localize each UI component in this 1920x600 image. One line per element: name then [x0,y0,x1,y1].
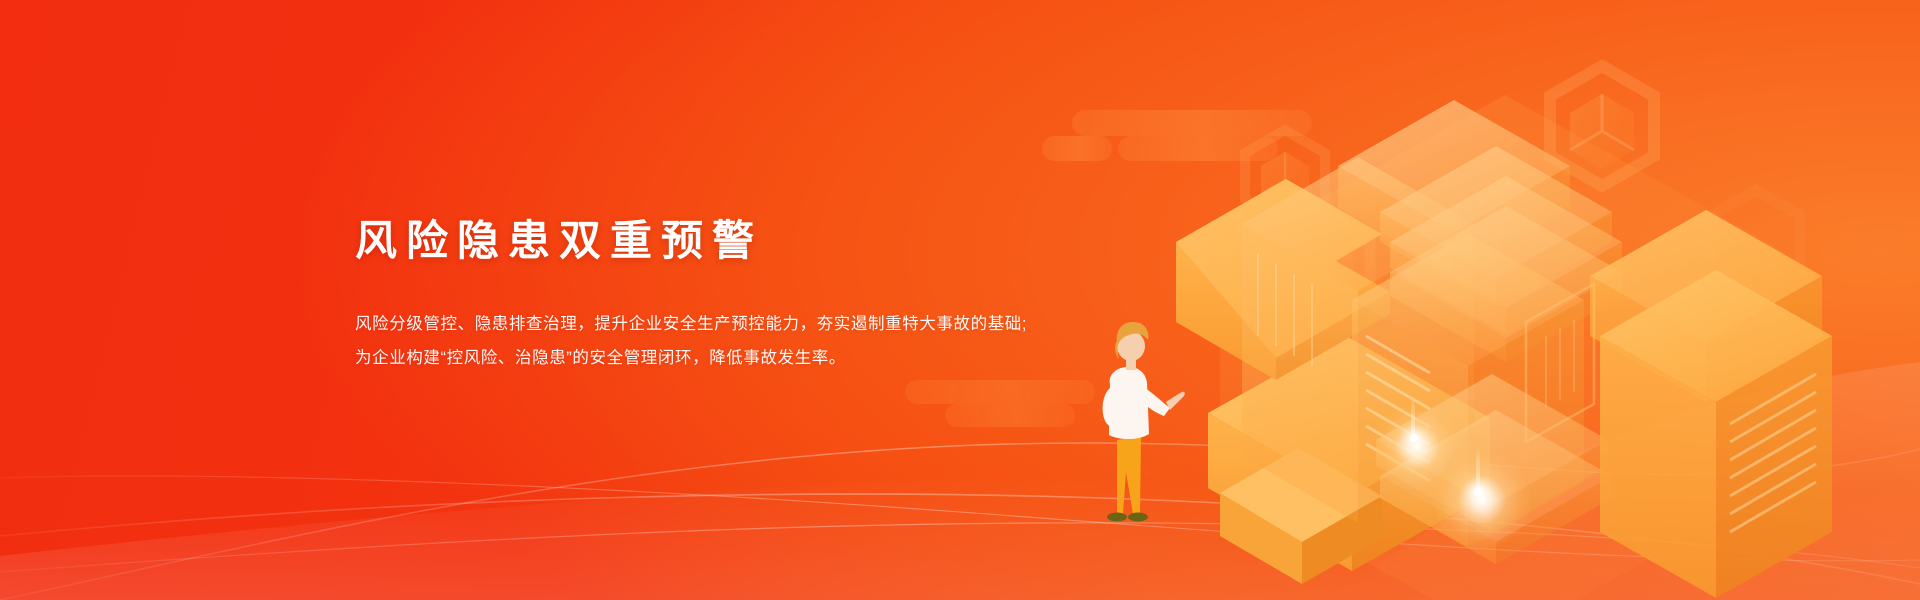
glow-marker-core-2 [1474,487,1483,496]
server-rack-tower-right [1590,210,1832,598]
subtitle-line-2: 为企业构建“控风险、治隐患”的安全管理闭环，降低事故发生率。 [355,342,1175,376]
glow-marker-core [1410,434,1418,442]
isometric-data-center-illustration [1090,36,1920,600]
banner-copy: 风险隐患双重预警 风险分级管控、隐患排查治理，提升企业安全生产预控能力，夯实遏制… [355,218,1175,376]
subtitle-line-1: 风险分级管控、隐患排查治理，提升企业安全生产预控能力，夯实遏制重特大事故的基础; [355,308,1175,342]
person-pointing [1103,322,1185,522]
banner-subtitle: 风险分级管控、隐患排查治理，提升企业安全生产预控能力，夯实遏制重特大事故的基础;… [355,308,1175,376]
page-title: 风险隐患双重预警 [355,218,1175,264]
hero-banner: 风险隐患双重预警 风险分级管控、隐患排查治理，提升企业安全生产预控能力，夯实遏制… [0,0,1920,600]
cloud-bar-decoration-2 [905,380,1095,427]
